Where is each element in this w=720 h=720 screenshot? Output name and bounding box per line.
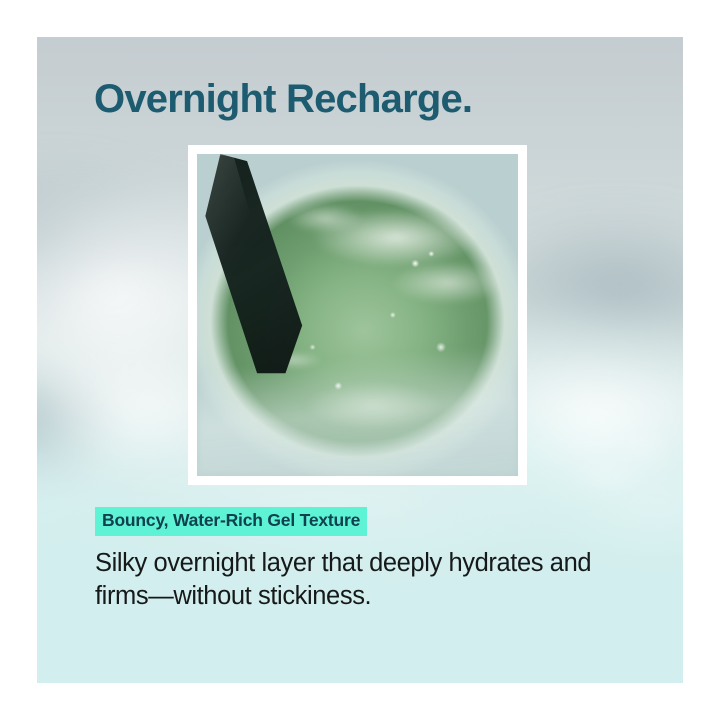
page-title: Overnight Recharge. [94, 79, 472, 119]
body-copy: Silky overnight layer that deeply hydrat… [95, 547, 640, 613]
product-photo-frame [188, 145, 527, 485]
product-feature-card: Overnight Recharge. Bouncy, Water-Rich G… [37, 37, 683, 683]
subhead-wrapper: Bouncy, Water-Rich Gel Texture [95, 507, 367, 536]
caption-block: Bouncy, Water-Rich Gel Texture Silky ove… [95, 507, 655, 613]
gel-droplet-sparkles [197, 154, 518, 476]
subhead-highlight: Bouncy, Water-Rich Gel Texture [95, 507, 367, 536]
product-photo [197, 154, 518, 476]
screenshot-canvas: Overnight Recharge. Bouncy, Water-Rich G… [0, 0, 720, 720]
